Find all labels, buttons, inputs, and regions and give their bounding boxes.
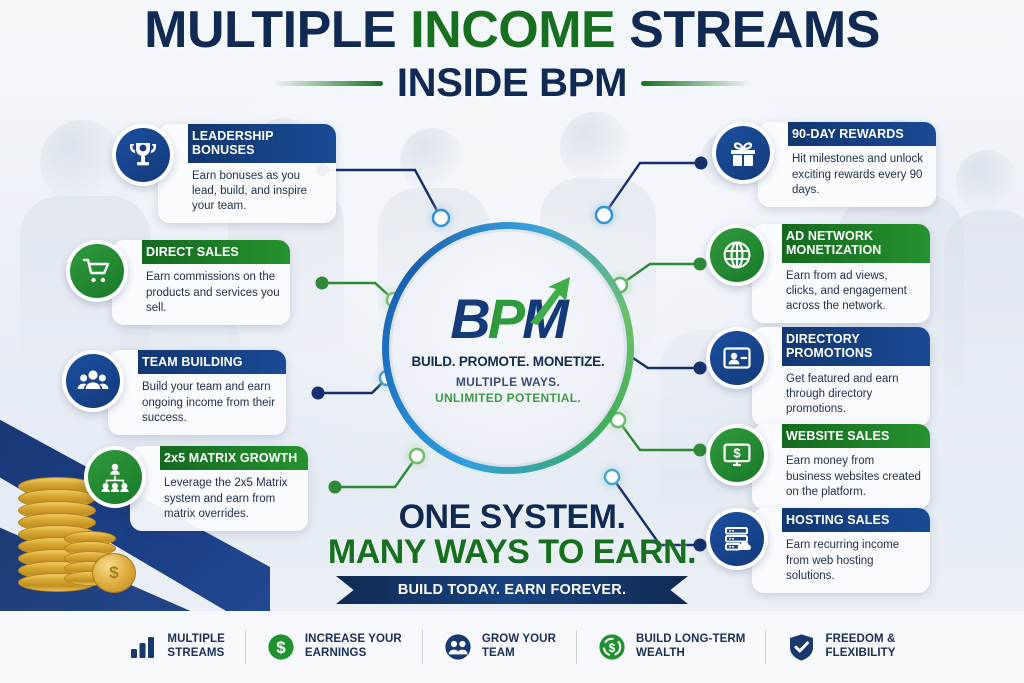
org-chart-icon xyxy=(99,461,131,493)
card-badge: $ xyxy=(706,424,768,486)
card-90-day-rewards[interactable]: 90-DAY REWARDS Hit milestones and unlock… xyxy=(712,122,936,207)
card-body: Earn bonuses as you lead, build, and ins… xyxy=(188,163,336,224)
card-panel: AD NETWORK MONETIZATION Earn from ad vie… xyxy=(752,224,930,323)
footer-item-label: GROW YOUR TEAM xyxy=(482,633,556,661)
footer-label-line-2: WEALTH xyxy=(636,647,685,659)
subtitle-rule-left xyxy=(273,81,383,86)
logo-letter-p: P xyxy=(488,291,522,347)
card-ad-network-monetization[interactable]: AD NETWORK MONETIZATION Earn from ad vie… xyxy=(706,224,930,323)
footer-label-line-2: TEAM xyxy=(482,647,515,659)
card-body: Earn from ad views, clicks, and engageme… xyxy=(782,263,930,324)
card-title: 2x5 MATRIX GROWTH xyxy=(160,446,308,470)
card-title: 90-DAY REWARDS xyxy=(788,122,936,146)
subtitle-row: INSIDE BPM xyxy=(0,61,1024,106)
shield-check-icon xyxy=(786,632,816,662)
card-panel: DIRECTORY PROMOTIONS Get featured and ea… xyxy=(752,327,930,426)
card-body: Earn commissions on the products and ser… xyxy=(142,264,290,325)
card-website-sales[interactable]: $ WEBSITE SALES Earn money from business… xyxy=(706,424,930,509)
closing-headline: ONE SYSTEM. MANY WAYS TO EARN. xyxy=(0,500,1024,570)
card-leadership-bonuses[interactable]: LEADERSHIP BONUSES Earn bonuses as you l… xyxy=(112,124,336,223)
svg-text:$: $ xyxy=(733,445,741,460)
footer-item-label: INCREASE YOUR EARNINGS xyxy=(305,633,402,661)
closing-line-2: MANY WAYS TO EARN. xyxy=(0,535,1024,571)
footer-benefits: MULTIPLE STREAMS $ INCREASE YOUR EARNING… xyxy=(0,611,1024,683)
footer-item-increase-earnings[interactable]: $ INCREASE YOUR EARNINGS xyxy=(246,632,422,662)
title-accent-word: INCOME xyxy=(410,1,615,59)
bar-chart-icon xyxy=(128,632,158,662)
card-panel: LEADERSHIP BONUSES Earn bonuses as you l… xyxy=(158,124,336,223)
footer-label-line-1: BUILD LONG-TERM xyxy=(636,633,745,645)
card-body: Get featured and earn through directory … xyxy=(782,366,930,427)
monitor-dollar-icon: $ xyxy=(721,439,753,471)
closing-ribbon: BUILD TODAY. EARN FOREVER. xyxy=(336,576,688,604)
card-title: TEAM BUILDING xyxy=(138,350,286,374)
card-team-building[interactable]: TEAM BUILDING Build your team and earn o… xyxy=(62,350,286,435)
card-title: DIRECTORY PROMOTIONS xyxy=(782,327,930,366)
card-badge xyxy=(112,124,174,186)
card-panel: 90-DAY REWARDS Hit milestones and unlock… xyxy=(758,122,936,207)
card-badge xyxy=(84,446,146,508)
card-panel: WEBSITE SALES Earn money from business w… xyxy=(752,424,930,509)
server-cloud-icon xyxy=(721,523,753,555)
recycle-dollar-icon: $ xyxy=(597,632,627,662)
card-badge xyxy=(62,350,124,412)
footer-item-label: FREEDOM & FLEXIBILITY xyxy=(825,633,895,661)
footer-label-line-1: FREEDOM & xyxy=(825,633,895,645)
dollar-circle-icon: $ xyxy=(266,632,296,662)
trophy-icon xyxy=(127,139,159,171)
footer-item-label: BUILD LONG-TERM WEALTH xyxy=(636,633,745,661)
card-badge xyxy=(706,508,768,570)
logo-letter-b: B xyxy=(450,291,487,347)
footer-label-line-2: STREAMS xyxy=(167,647,224,659)
title-part-1: MULTIPLE xyxy=(144,1,410,59)
svg-text:$: $ xyxy=(609,641,616,655)
page-title: MULTIPLE INCOME STREAMS xyxy=(0,4,1024,58)
card-badge xyxy=(66,240,128,302)
card-title: WEBSITE SALES xyxy=(782,424,930,448)
card-badge xyxy=(706,224,768,286)
logo-tagline-1: BUILD. PROMOTE. MONETIZE. xyxy=(412,354,605,369)
card-title: DIRECT SALES xyxy=(142,240,290,264)
footer-label-line-2: FLEXIBILITY xyxy=(825,647,895,659)
id-card-icon xyxy=(721,342,753,374)
card-title: AD NETWORK MONETIZATION xyxy=(782,224,930,263)
card-body: Build your team and earn ongoing income … xyxy=(138,374,286,435)
people-group-icon xyxy=(77,365,109,397)
card-direct-sales[interactable]: DIRECT SALES Earn commissions on the pro… xyxy=(66,240,290,325)
shopping-cart-icon xyxy=(81,255,113,287)
footer-item-freedom-flexibility[interactable]: FREEDOM & FLEXIBILITY xyxy=(766,632,915,662)
card-panel: DIRECT SALES Earn commissions on the pro… xyxy=(112,240,290,325)
card-title: LEADERSHIP BONUSES xyxy=(188,124,336,163)
page-title-block: MULTIPLE INCOME STREAMS INSIDE BPM xyxy=(0,4,1024,106)
footer-label-line-2: EARNINGS xyxy=(305,647,367,659)
footer-item-label: MULTIPLE STREAMS xyxy=(167,633,224,661)
footer-item-grow-your-team[interactable]: GROW YOUR TEAM xyxy=(423,632,576,662)
growth-arrow-icon xyxy=(526,275,572,325)
subtitle-rule-right xyxy=(641,81,751,86)
card-body: Hit milestones and unlock exciting rewar… xyxy=(788,146,936,207)
card-panel: TEAM BUILDING Build your team and earn o… xyxy=(108,350,286,435)
footer-label-line-1: INCREASE YOUR xyxy=(305,633,402,645)
logo-tagline-3: UNLIMITED POTENTIAL. xyxy=(435,391,581,405)
infographic-canvas: MULTIPLE INCOME STREAMS INSIDE BPM xyxy=(0,0,1024,683)
bpm-wordmark: BPM xyxy=(450,291,565,347)
svg-text:$: $ xyxy=(276,638,286,657)
bpm-logo: BPM BUILD. PROMOTE. MONETIZE. MULTIPLE W… xyxy=(392,232,624,464)
globe-icon xyxy=(721,239,753,271)
page-subtitle: INSIDE BPM xyxy=(397,61,627,106)
ribbon-text: BUILD TODAY. EARN FOREVER. xyxy=(398,582,626,598)
two-people-icon xyxy=(443,632,473,662)
card-badge xyxy=(712,122,774,184)
footer-item-multiple-streams[interactable]: MULTIPLE STREAMS xyxy=(108,632,244,662)
footer-item-build-long-term-wealth[interactable]: $ BUILD LONG-TERM WEALTH xyxy=(577,632,765,662)
card-directory-promotions[interactable]: DIRECTORY PROMOTIONS Get featured and ea… xyxy=(706,327,930,426)
card-badge xyxy=(706,327,768,389)
title-part-2: STREAMS xyxy=(615,1,880,59)
gift-icon xyxy=(727,137,759,169)
footer-label-line-1: MULTIPLE xyxy=(167,633,224,645)
logo-tagline-2: MULTIPLE WAYS. xyxy=(456,375,560,389)
closing-line-1: ONE SYSTEM. xyxy=(0,500,1024,535)
footer-label-line-1: GROW YOUR xyxy=(482,633,556,645)
